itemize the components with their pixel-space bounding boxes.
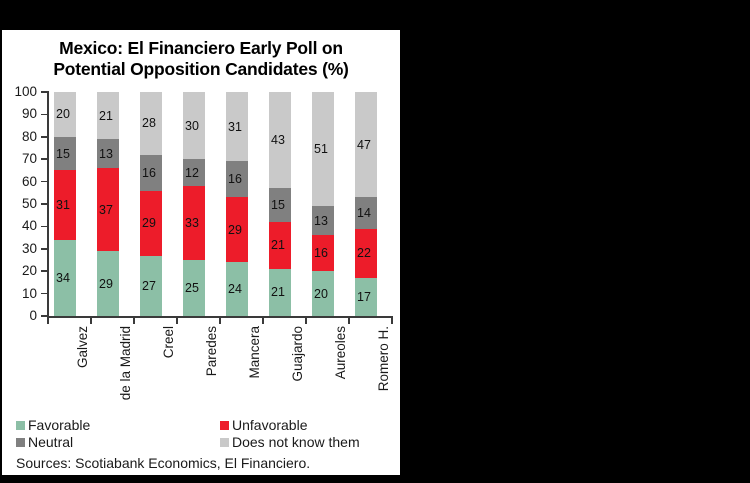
y-axis-tick-label: 90: [2, 107, 37, 121]
bar-segment[interactable]: 29: [226, 197, 248, 262]
plot-area: 2015313421133729281629273012332531162924…: [48, 92, 392, 316]
bar-value-label: 14: [357, 207, 371, 220]
bar-value-label: 21: [271, 239, 285, 252]
bar-value-label: 20: [56, 108, 70, 121]
bar-segment[interactable]: 17: [355, 278, 377, 316]
bar-value-label: 30: [185, 119, 199, 132]
y-axis-tick-label: 80: [2, 130, 37, 144]
y-axis-tick: [41, 226, 48, 228]
x-axis-category-label: Aureoles: [330, 326, 352, 379]
bar-value-label: 37: [99, 203, 113, 216]
y-axis-tick-label: 10: [2, 287, 37, 301]
bar-value-label: 33: [185, 217, 199, 230]
bar-value-label: 34: [56, 272, 70, 285]
x-axis-tick: [219, 317, 221, 324]
chart-legend: Favorable Unfavorable Neutral Does not k…: [16, 418, 396, 452]
bar-segment[interactable]: 13: [97, 139, 119, 168]
bar-column[interactable]: 20153134: [54, 92, 76, 316]
bar-segment[interactable]: 34: [54, 240, 76, 316]
chart-title-line-1: Mexico: El Financiero Early Poll on: [2, 38, 400, 59]
bar-column[interactable]: 30123325: [183, 92, 205, 316]
bar-value-label: 16: [228, 173, 242, 186]
bar-segment[interactable]: 21: [97, 92, 119, 139]
sources-note: Sources: Scotiabank Economics, El Financ…: [16, 455, 310, 471]
x-axis-category-label: Galvez: [72, 326, 94, 368]
y-axis-tick: [41, 91, 48, 93]
bar-segment[interactable]: 15: [269, 188, 291, 222]
x-axis-category-label: Guajardo: [287, 326, 309, 382]
bar-value-label: 29: [99, 277, 113, 290]
bar-value-label: 47: [357, 138, 371, 151]
bar-segment[interactable]: 25: [183, 260, 205, 316]
x-axis-tick: [133, 317, 135, 324]
bar-segment[interactable]: 33: [183, 186, 205, 260]
x-axis-tick: [391, 317, 393, 324]
bar-segment[interactable]: 31: [226, 92, 248, 161]
bar-column[interactable]: 51131620: [312, 92, 334, 316]
y-axis-tick: [41, 270, 48, 272]
bar-value-label: 29: [228, 224, 242, 237]
legend-swatch-neutral: [16, 438, 25, 447]
bar-segment[interactable]: 28: [140, 92, 162, 155]
bar-segment[interactable]: 29: [97, 251, 119, 316]
bar-value-label: 21: [271, 286, 285, 299]
legend-row-1: Favorable Unfavorable: [16, 418, 396, 435]
x-axis-tick: [47, 317, 49, 324]
y-axis-tick-label: 100: [2, 85, 37, 99]
bar-segment[interactable]: 16: [226, 161, 248, 197]
bar-segment[interactable]: 27: [140, 256, 162, 316]
bar-value-label: 20: [314, 287, 328, 300]
bar-column[interactable]: 28162927: [140, 92, 162, 316]
y-axis-tick: [41, 293, 48, 295]
bar-value-label: 13: [314, 215, 328, 228]
bar-segment[interactable]: 24: [226, 262, 248, 316]
legend-item-does-not-know-them: Does not know them: [220, 435, 360, 449]
x-axis-category-label: Paredes: [201, 326, 223, 376]
x-axis-tick: [90, 317, 92, 324]
y-axis-tick: [41, 158, 48, 160]
chart-title-line-2: Potential Opposition Candidates (%): [2, 59, 400, 80]
y-axis-tick: [41, 181, 48, 183]
x-axis-category-label: Romero H.: [373, 326, 395, 391]
bar-value-label: 31: [56, 199, 70, 212]
y-axis-tick-label: 70: [2, 152, 37, 166]
bar-segment[interactable]: 31: [54, 170, 76, 239]
bar-column[interactable]: 21133729: [97, 92, 119, 316]
bar-value-label: 12: [185, 166, 199, 179]
bar-segment[interactable]: 43: [269, 92, 291, 188]
bar-value-label: 24: [228, 283, 242, 296]
bar-segment[interactable]: 22: [355, 229, 377, 278]
bar-value-label: 31: [228, 121, 242, 134]
legend-label-favorable: Favorable: [28, 418, 90, 432]
x-axis-category-label: Creel: [158, 326, 180, 358]
y-axis-tick-label: 0: [2, 309, 37, 323]
bar-segment[interactable]: 51: [312, 92, 334, 206]
bar-value-label: 17: [357, 291, 371, 304]
y-axis-tick-label: 20: [2, 264, 37, 278]
legend-swatch-favorable: [16, 421, 25, 430]
bar-segment[interactable]: 30: [183, 92, 205, 159]
legend-swatch-does-not-know-them: [220, 438, 229, 447]
bar-segment[interactable]: 16: [312, 235, 334, 271]
x-axis-category-label: de la Madrid: [115, 326, 137, 400]
legend-item-unfavorable: Unfavorable: [220, 418, 308, 432]
y-axis-tick: [41, 248, 48, 250]
bar-value-label: 22: [357, 247, 371, 260]
bar-value-label: 51: [314, 143, 328, 156]
bar-value-label: 29: [142, 217, 156, 230]
legend-item-neutral: Neutral: [16, 435, 73, 449]
bar-column[interactable]: 31162924: [226, 92, 248, 316]
legend-item-favorable: Favorable: [16, 418, 90, 432]
y-axis-tick-label: 40: [2, 219, 37, 233]
legend-label-neutral: Neutral: [28, 435, 73, 449]
bar-segment[interactable]: 15: [54, 137, 76, 171]
bar-value-label: 13: [99, 147, 113, 160]
bar-segment[interactable]: 37: [97, 168, 119, 251]
bar-segment[interactable]: 20: [312, 271, 334, 316]
y-axis-tick: [41, 203, 48, 205]
legend-swatch-unfavorable: [220, 421, 229, 430]
chart-title: Mexico: El Financiero Early Poll on Pote…: [2, 38, 400, 80]
bar-value-label: 15: [56, 147, 70, 160]
bar-segment[interactable]: 21: [269, 222, 291, 269]
bar-value-label: 15: [271, 199, 285, 212]
bar-segment[interactable]: 21: [269, 269, 291, 316]
bar-segment[interactable]: 16: [140, 155, 162, 191]
y-axis-tick: [41, 114, 48, 116]
bar-value-label: 16: [142, 166, 156, 179]
y-axis-tick-label: 50: [2, 197, 37, 211]
bar-column[interactable]: 47142217: [355, 92, 377, 316]
bar-segment[interactable]: 14: [355, 197, 377, 228]
x-axis-tick: [305, 317, 307, 324]
bar-value-label: 25: [185, 282, 199, 295]
bar-column[interactable]: 43152121: [269, 92, 291, 316]
x-axis-category-label: Mancera: [244, 326, 266, 379]
y-axis-tick: [41, 136, 48, 138]
legend-label-unfavorable: Unfavorable: [232, 418, 308, 432]
chart-panel: Mexico: El Financiero Early Poll on Pote…: [2, 30, 400, 475]
y-axis-tick-label: 30: [2, 242, 37, 256]
x-axis-tick: [176, 317, 178, 324]
bar-segment[interactable]: 20: [54, 92, 76, 137]
bar-value-label: 16: [314, 247, 328, 260]
bar-segment[interactable]: 47: [355, 92, 377, 197]
bar-segment[interactable]: 29: [140, 191, 162, 256]
y-axis-tick-label: 60: [2, 175, 37, 189]
bar-value-label: 43: [271, 134, 285, 147]
bar-value-label: 21: [99, 109, 113, 122]
bar-segment[interactable]: 13: [312, 206, 334, 235]
legend-row-2: Neutral Does not know them: [16, 435, 396, 452]
bar-value-label: 28: [142, 117, 156, 130]
bar-segment[interactable]: 12: [183, 159, 205, 186]
x-axis-tick: [262, 317, 264, 324]
legend-label-does-not-know-them: Does not know them: [232, 435, 360, 449]
x-axis-tick: [348, 317, 350, 324]
bar-value-label: 27: [142, 280, 156, 293]
